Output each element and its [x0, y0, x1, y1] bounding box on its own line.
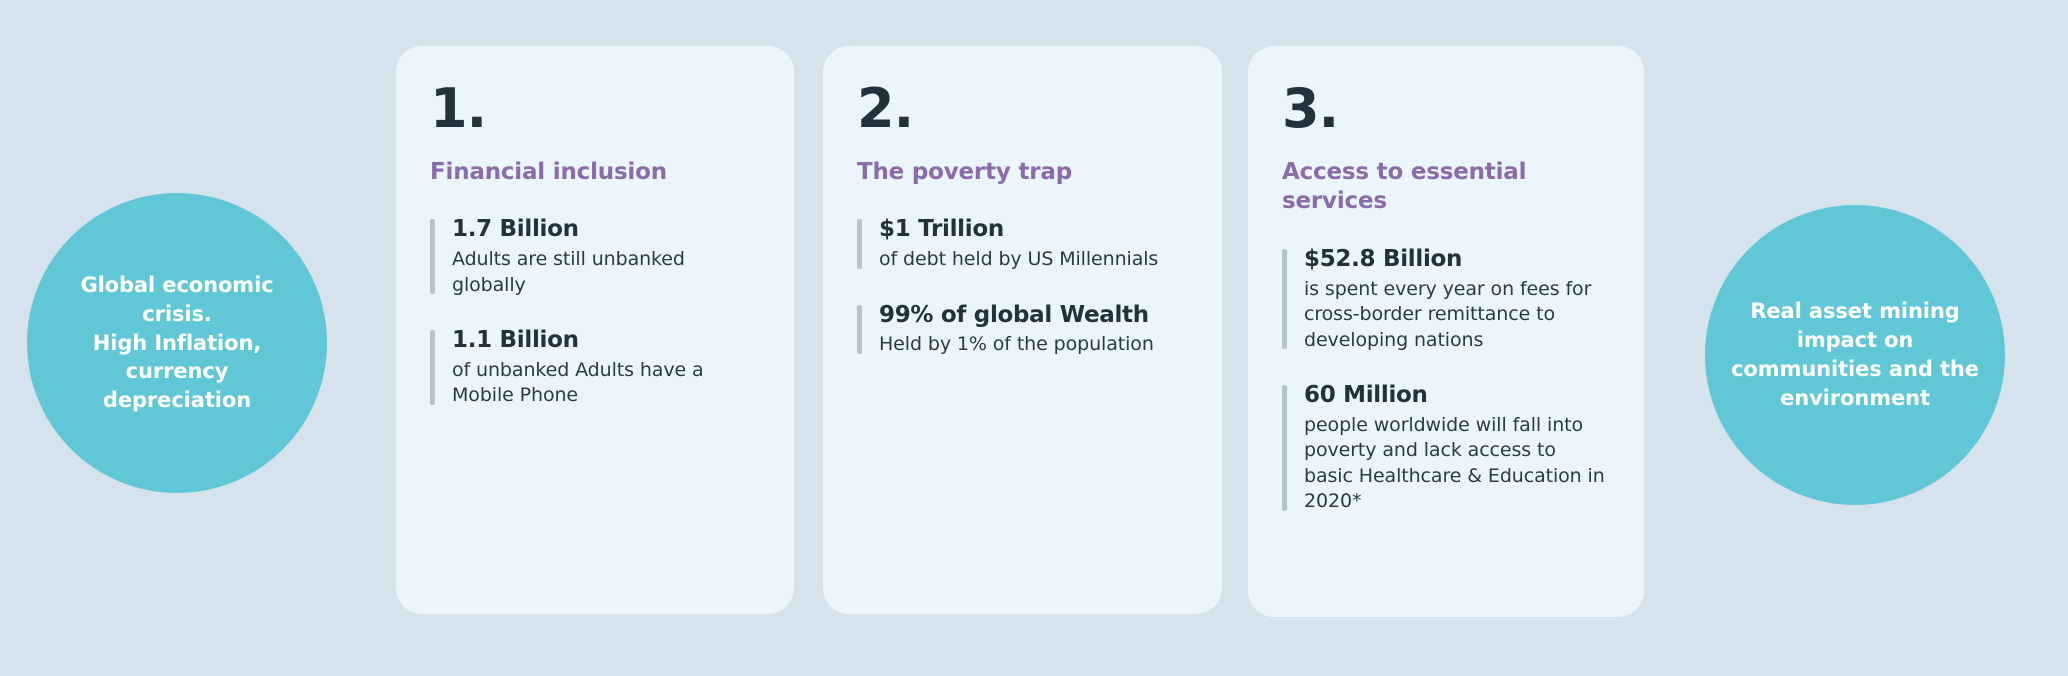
stat-value: 60 Million — [1304, 381, 1610, 410]
card-1-stats: 1.7 Billion Adults are still unbanked gl… — [430, 215, 760, 408]
card-poverty-trap: 2. The poverty trap $1 Trillion of debt … — [823, 46, 1222, 614]
card-1-title: Financial inclusion — [430, 158, 760, 187]
stat-item: $52.8 Billion is spent every year on fee… — [1282, 245, 1610, 353]
stat-description: of debt held by US Millennials — [879, 247, 1188, 272]
stat-description: of unbanked Adults have a Mobile Phone — [452, 358, 760, 409]
circle-real-asset-mining-impact: Real asset mining impact on communities … — [1705, 205, 2005, 505]
stat-accent-bar — [857, 305, 862, 354]
stat-description: is spent every year on fees for cross-bo… — [1304, 277, 1610, 353]
card-3-number: 3. — [1282, 82, 1610, 136]
stat-item: $1 Trillion of debt held by US Millennia… — [857, 215, 1188, 272]
stat-value: 99% of global Wealth — [879, 301, 1188, 330]
card-3-title: Access to essential services — [1282, 158, 1610, 217]
stat-accent-bar — [1282, 249, 1287, 349]
card-1-number: 1. — [430, 82, 760, 136]
stat-accent-bar — [857, 219, 862, 268]
card-access-to-essential-services: 3. Access to essential services $52.8 Bi… — [1248, 46, 1644, 617]
stat-value: $52.8 Billion — [1304, 245, 1610, 274]
stat-accent-bar — [430, 330, 435, 405]
circle-global-economic-crisis: Global economic crisis. High Inflation, … — [27, 193, 327, 493]
card-financial-inclusion: 1. Financial inclusion 1.7 Billion Adult… — [396, 46, 794, 614]
circle-left-text: Global economic crisis. High Inflation, … — [49, 271, 305, 416]
stat-accent-bar — [430, 219, 435, 294]
stat-item: 60 Million people worldwide will fall in… — [1282, 381, 1610, 515]
stat-value: 1.1 Billion — [452, 326, 760, 355]
stat-item: 99% of global Wealth Held by 1% of the p… — [857, 301, 1188, 358]
stat-accent-bar — [1282, 385, 1287, 511]
stat-description: people worldwide will fall into poverty … — [1304, 413, 1610, 515]
card-2-number: 2. — [857, 82, 1188, 136]
circle-right-text: Real asset mining impact on communities … — [1727, 297, 1983, 413]
stat-description: Held by 1% of the population — [879, 332, 1188, 357]
stat-description: Adults are still unbanked globally — [452, 247, 760, 298]
stat-item: 1.1 Billion of unbanked Adults have a Mo… — [430, 326, 760, 409]
card-2-stats: $1 Trillion of debt held by US Millennia… — [857, 215, 1188, 357]
card-2-title: The poverty trap — [857, 158, 1188, 187]
stat-value: 1.7 Billion — [452, 215, 760, 244]
card-3-stats: $52.8 Billion is spent every year on fee… — [1282, 245, 1610, 515]
stat-value: $1 Trillion — [879, 215, 1188, 244]
stat-item: 1.7 Billion Adults are still unbanked gl… — [430, 215, 760, 298]
infographic-stage: Global economic crisis. High Inflation, … — [0, 0, 2068, 676]
